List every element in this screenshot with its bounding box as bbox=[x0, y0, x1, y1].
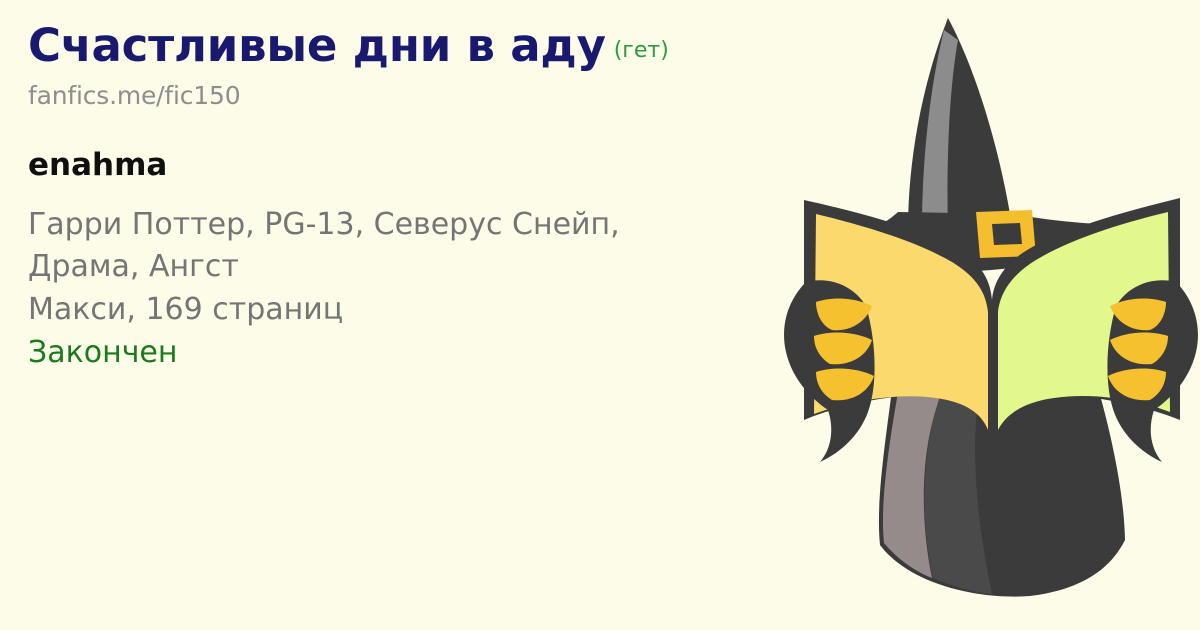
open-book-group bbox=[804, 198, 1180, 432]
book-page-right bbox=[998, 212, 1170, 430]
hat-buckle-inner bbox=[992, 223, 1022, 245]
meta-line-size-pages: Макси, 169 страниц bbox=[28, 289, 828, 332]
title-text: Счастливые дни в аду bbox=[28, 19, 606, 72]
status-badge: Закончен bbox=[28, 332, 828, 375]
hat-buckle bbox=[976, 210, 1036, 258]
hat-buckle-outer bbox=[976, 210, 1036, 258]
fic-preview-card: Счастливые дни в аду(гет) fanfics.me/fic… bbox=[0, 0, 1200, 630]
hat-cone-main bbox=[908, 18, 1012, 230]
hat-cone bbox=[915, 18, 986, 222]
book-page-left bbox=[814, 214, 988, 430]
witch-hat-group bbox=[808, 18, 1166, 271]
robe-body bbox=[879, 388, 1125, 597]
author-name: enahma bbox=[28, 148, 828, 182]
witch-robe-group bbox=[879, 388, 1125, 597]
right-sleeve bbox=[1107, 280, 1198, 462]
text-column: Счастливые дни в аду(гет) fanfics.me/fic… bbox=[28, 22, 828, 374]
title-category-label: (гет) bbox=[614, 38, 669, 63]
right-finger-1 bbox=[1110, 299, 1166, 331]
right-finger-3 bbox=[1108, 369, 1166, 401]
witch-reading-book-illustration bbox=[780, 0, 1200, 630]
book-backing bbox=[804, 198, 1180, 426]
book-spine bbox=[989, 300, 993, 432]
robe-highlight bbox=[883, 392, 940, 578]
right-hand-group bbox=[1107, 280, 1198, 462]
meta-line-fandom-rating-characters: Гарри Поттер, PG-13, Северус Снейп, bbox=[28, 204, 828, 247]
robe-inner-shadow bbox=[925, 392, 992, 594]
right-finger-2 bbox=[1110, 333, 1168, 365]
fic-metadata: Гарри Поттер, PG-13, Северус Снейп, Драм… bbox=[28, 204, 828, 374]
meta-line-genres: Драма, Ангст bbox=[28, 246, 828, 289]
page-title: Счастливые дни в аду(гет) bbox=[28, 22, 828, 69]
hat-brim bbox=[808, 212, 1166, 271]
source-url: fanfics.me/fic150 bbox=[28, 82, 828, 110]
hat-highlight bbox=[922, 30, 958, 228]
